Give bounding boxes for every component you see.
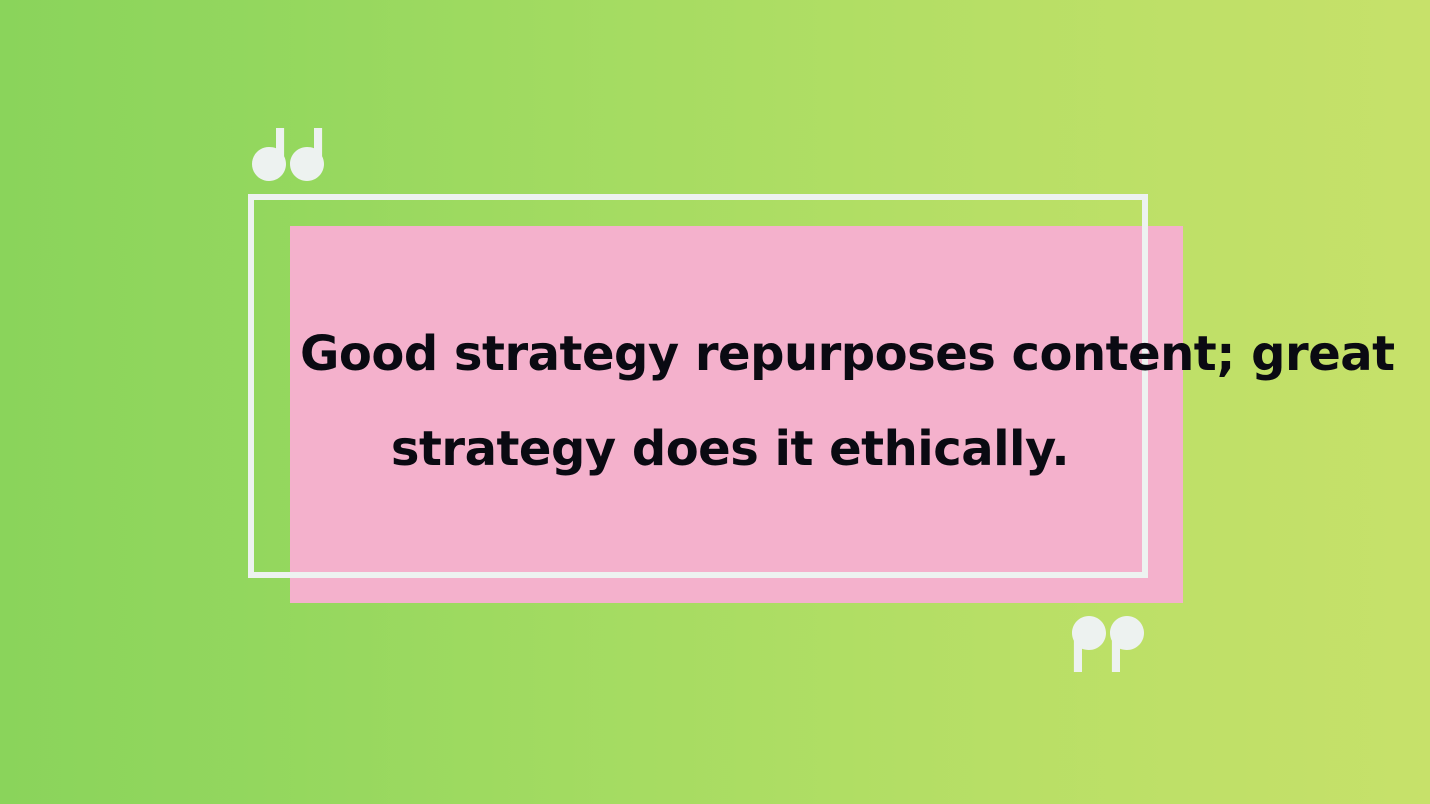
- quote-slide: Good strategy repurposes content; great …: [0, 0, 1430, 804]
- open-quote-mark-icon: [252, 128, 326, 186]
- quote-line-1: Good strategy repurposes content; great: [300, 330, 1160, 378]
- quote-line-2: strategy does it ethically.: [300, 425, 1160, 473]
- close-quote-mark-icon: [1070, 614, 1148, 676]
- quote-text: Good strategy repurposes content; great …: [300, 330, 1160, 473]
